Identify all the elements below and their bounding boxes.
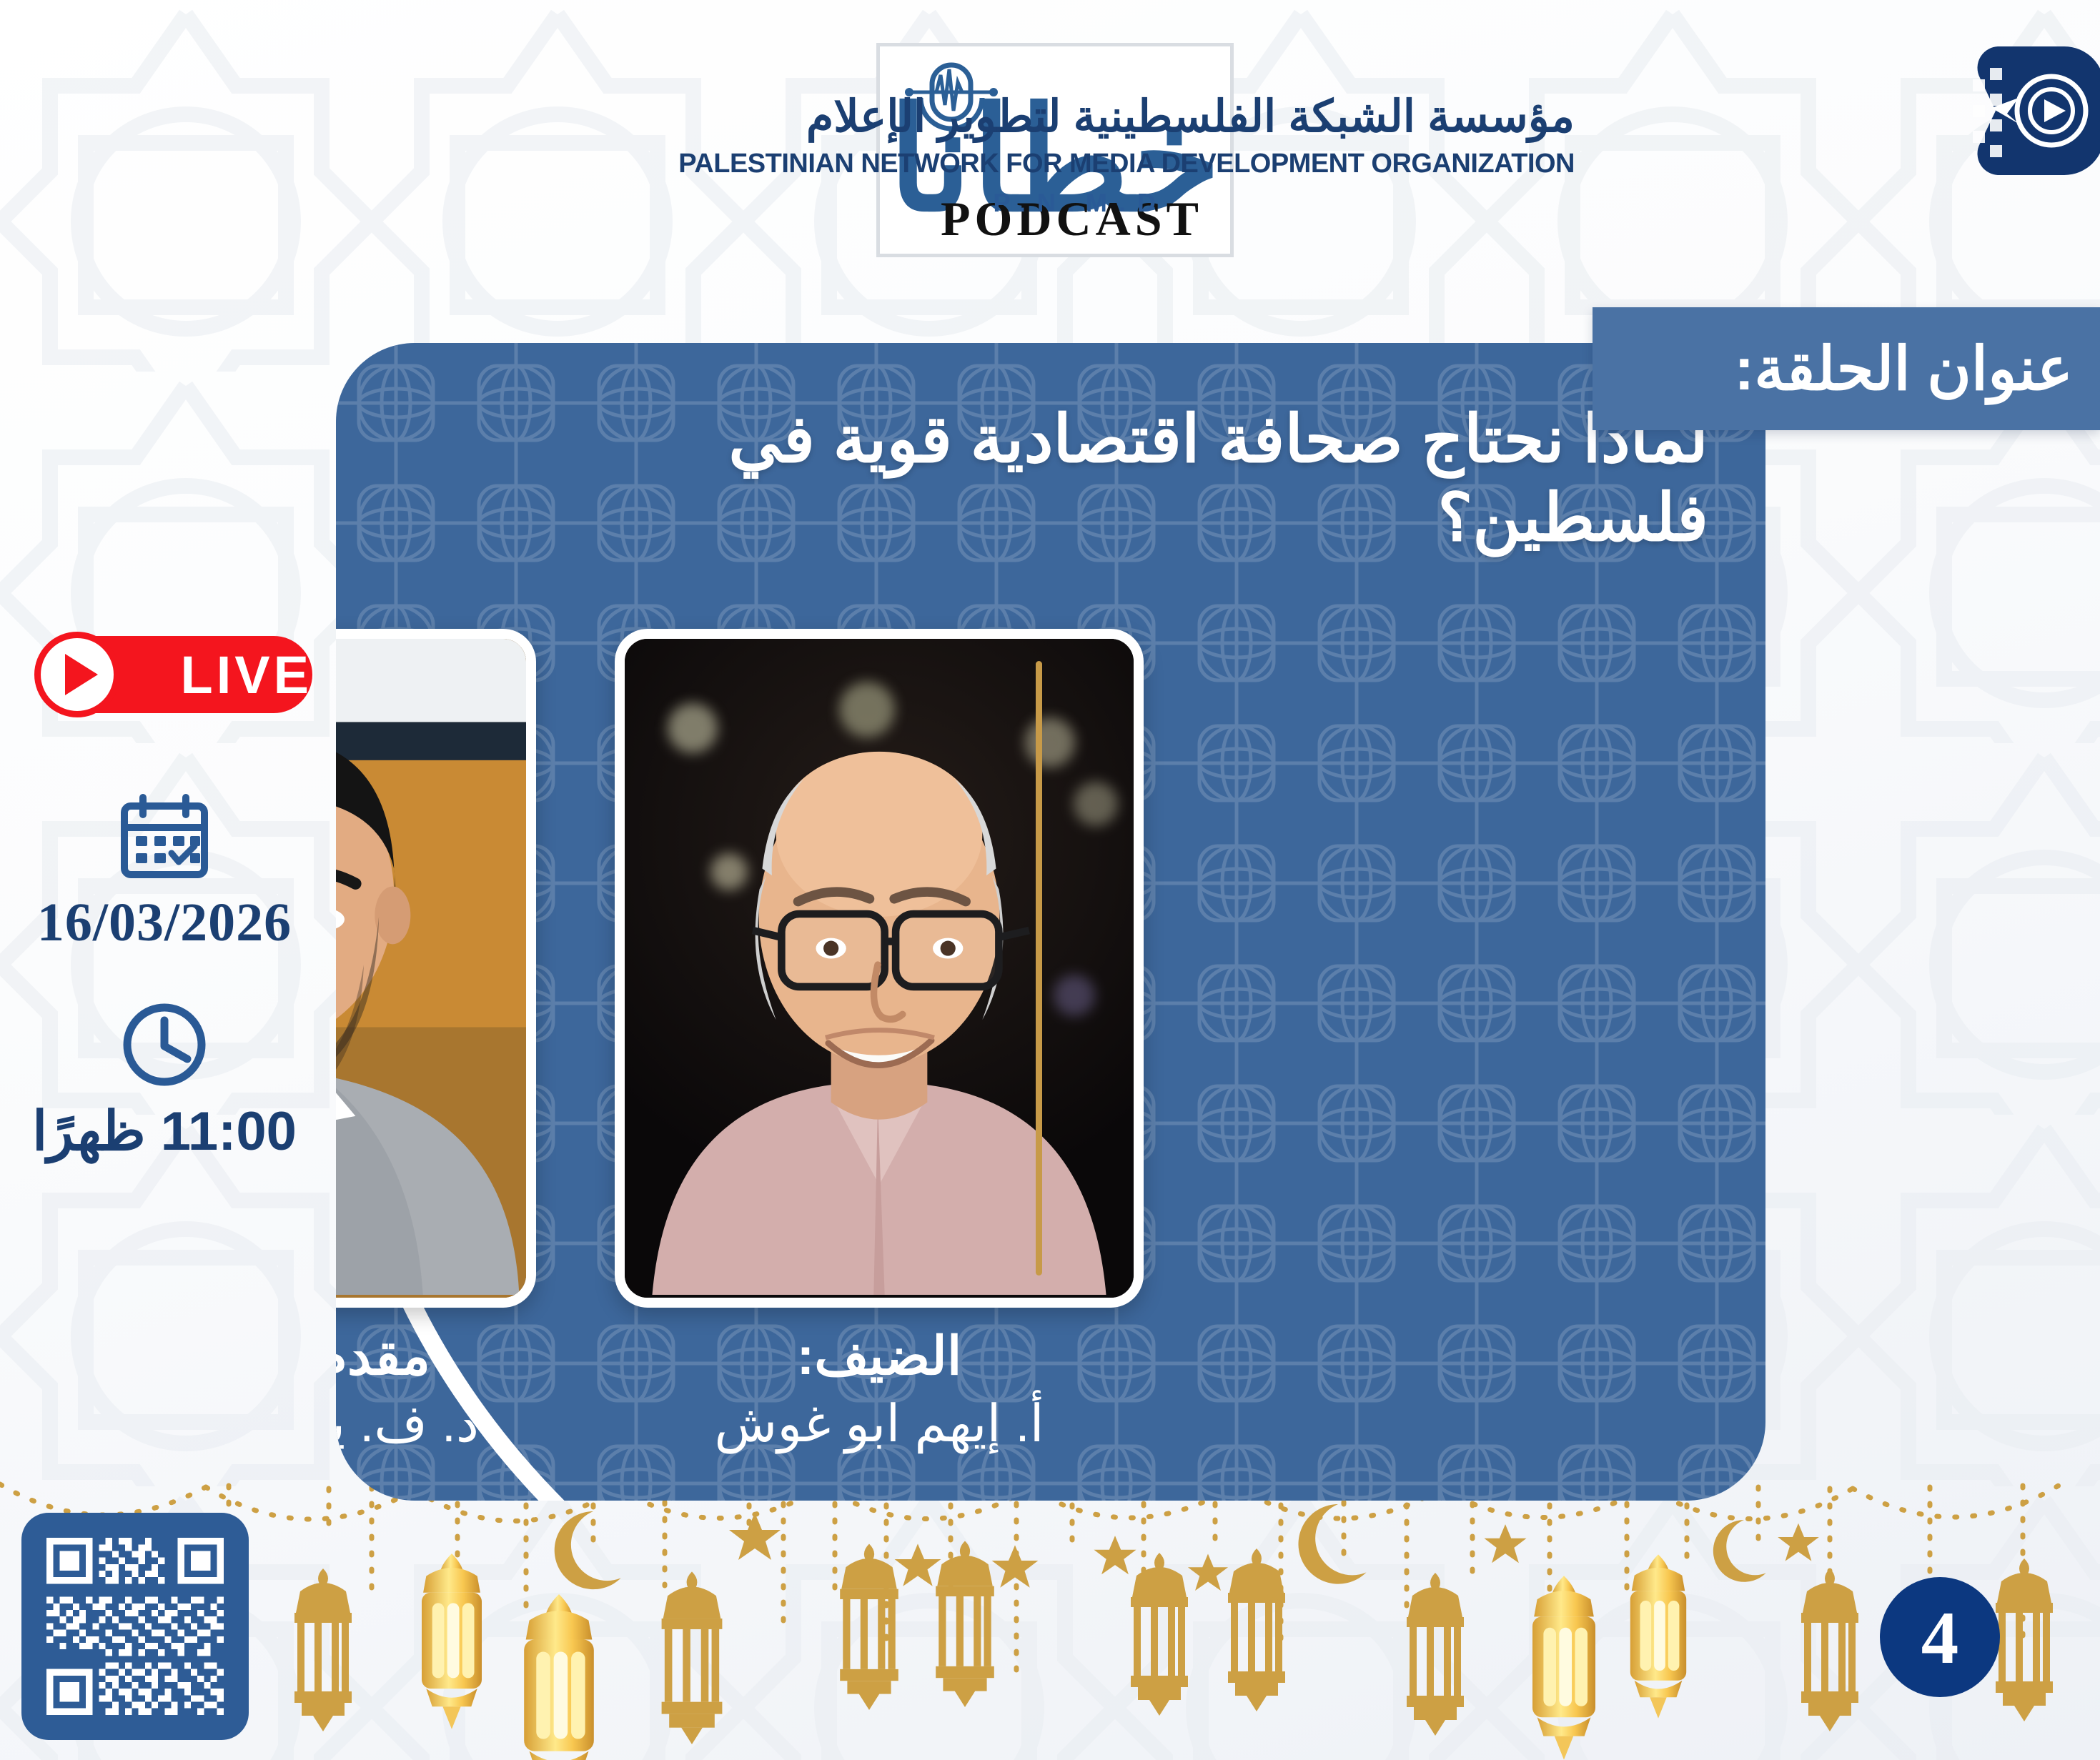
episode-number-value: 4 xyxy=(1921,1600,1959,1675)
host-role-label: مقدم البرنامج: xyxy=(336,1326,522,1386)
vertical-divider xyxy=(1036,661,1042,1276)
ramadan-lanterns-icon xyxy=(0,1460,2100,1760)
live-label: LIVE xyxy=(181,645,312,705)
organization-name-english: PALESTINIAN NETWORK FOR MEDIA DEVELOPMEN… xyxy=(678,149,1575,179)
poster-canvas: خطانا PODCAST مؤسسة الشبكة الفلسطينية لت… xyxy=(0,0,2100,1760)
calendar-icon xyxy=(119,793,210,882)
guest-credit: الضيف: أ. إيهم ابو غوش xyxy=(629,1326,1129,1456)
live-badge: LIVE xyxy=(37,636,312,713)
host-credit: مقدم البرنامج: د. ف. يوسف الكرنز xyxy=(336,1326,522,1456)
guest-name: أ. إيهم ابو غوش xyxy=(629,1392,1129,1456)
broadcast-time: 11:00 ظهرًا xyxy=(14,1099,314,1163)
qr-code-icon[interactable] xyxy=(21,1513,249,1740)
guest-photo xyxy=(615,629,1144,1308)
poster-header: خطانا PODCAST مؤسسة الشبكة الفلسطينية لت… xyxy=(0,0,2100,279)
time-block: 11:00 ظهرًا xyxy=(14,1000,314,1163)
pnmd-play-mark-icon xyxy=(1957,39,2100,182)
host-photo xyxy=(336,629,536,1308)
organization-abbreviation: P.N.M.D xyxy=(678,188,1575,218)
date-block: 16/03/2026 xyxy=(14,793,314,954)
main-card: لماذا نحتاج صحافة اقتصادية قوية في فلسطي… xyxy=(336,343,1765,1501)
clock-icon xyxy=(120,1000,209,1089)
host-name: د. ف. يوسف الكرنز xyxy=(336,1392,522,1456)
play-icon xyxy=(34,632,120,717)
organization-lockup: مؤسسة الشبكة الفلسطينية لتطوير الإعلام P… xyxy=(678,93,1575,218)
episode-title: لماذا نحتاج صحافة اقتصادية قوية في فلسطي… xyxy=(479,400,1708,558)
episode-title-ribbon: عنوان الحلقة: xyxy=(1593,307,2100,430)
broadcast-date: 16/03/2026 xyxy=(14,892,314,954)
episode-title-label: عنوان الحلقة: xyxy=(1734,334,2073,404)
episode-number-badge: 4 xyxy=(1880,1577,2000,1697)
organization-name-arabic: مؤسسة الشبكة الفلسطينية لتطوير الإعلام xyxy=(678,93,1575,141)
guest-role-label: الضيف: xyxy=(629,1326,1129,1386)
